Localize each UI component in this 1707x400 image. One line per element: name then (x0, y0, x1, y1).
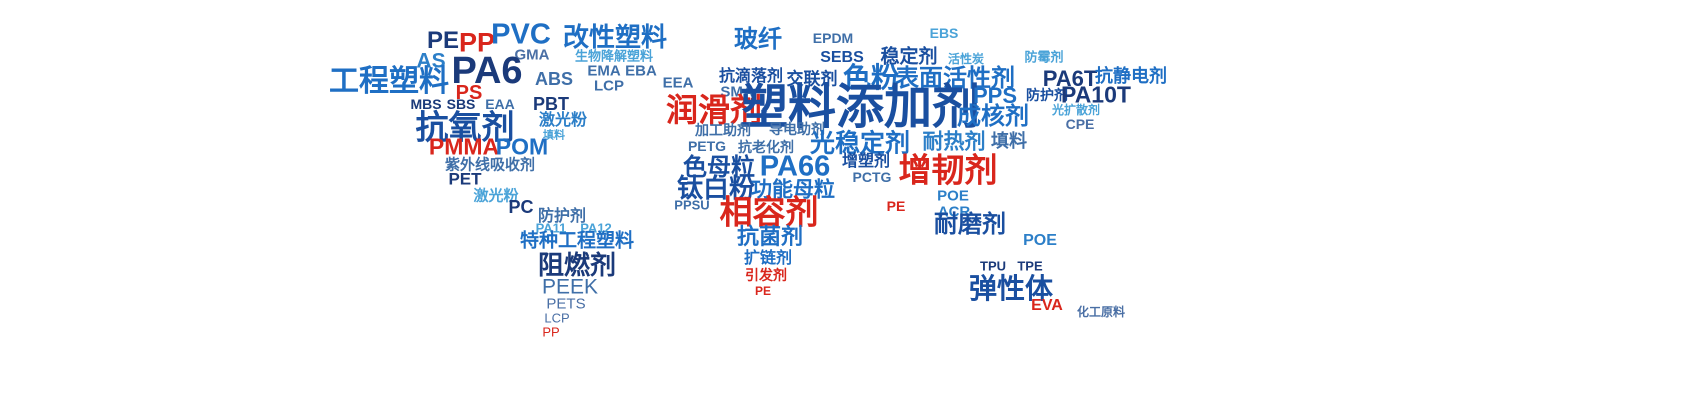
word-cloud-term[interactable]: PET (448, 171, 481, 188)
word-cloud-term[interactable]: 改性塑料 (563, 25, 667, 51)
word-cloud-term[interactable]: PPSU (674, 199, 709, 212)
word-cloud-term[interactable]: 光扩散剂 (1052, 104, 1100, 116)
word-cloud-term[interactable]: PVC (491, 21, 551, 50)
word-cloud-term[interactable]: 增韧剂 (899, 154, 998, 187)
word-cloud-term[interactable]: EBA (625, 64, 657, 79)
word-cloud-term[interactable]: 工程塑料 (329, 67, 449, 97)
word-cloud-term[interactable]: 引发剂 (745, 269, 787, 283)
word-cloud-term[interactable]: 激光粉 (539, 112, 587, 128)
word-cloud-term[interactable]: ABS (535, 70, 573, 88)
word-cloud-term[interactable]: 相容剂 (720, 196, 819, 229)
word-cloud-term[interactable]: 玻纤 (734, 27, 782, 51)
word-cloud-term[interactable]: POE (937, 189, 969, 204)
word-cloud-term[interactable]: EVA (1031, 298, 1063, 314)
word-cloud-term[interactable]: PETG (688, 139, 726, 153)
word-cloud-term[interactable]: LCP (544, 312, 569, 325)
word-cloud-term[interactable]: TPE (1017, 260, 1042, 273)
word-cloud-term[interactable]: EBS (930, 26, 959, 40)
word-cloud-term[interactable]: EMA (587, 64, 620, 79)
word-cloud-term[interactable]: 防霉剂 (1024, 52, 1063, 65)
word-cloud-term[interactable]: PC (508, 198, 533, 216)
word-cloud-term[interactable]: EPDM (813, 31, 853, 45)
word-cloud-term[interactable]: 抗菌剂 (737, 227, 803, 249)
word-cloud-term[interactable]: 化工原料 (1077, 306, 1125, 318)
word-cloud-term[interactable]: PCTG (853, 170, 892, 184)
word-cloud-term[interactable]: PE (887, 199, 906, 213)
word-cloud-term[interactable]: 加工助剂 (695, 124, 751, 138)
word-cloud-term[interactable]: EEA (663, 76, 694, 91)
word-cloud-term[interactable]: CPE (1066, 117, 1095, 131)
word-cloud-term[interactable]: 耐热剂 (923, 132, 986, 153)
word-cloud-term[interactable]: 耐磨剂 (934, 212, 1006, 236)
word-cloud-term[interactable]: 填料 (991, 133, 1027, 151)
word-cloud-term[interactable]: 增塑剂 (842, 153, 890, 169)
word-cloud-canvas: PEPPPVCGMAASPA6工程塑料ABSPSMBSSBSEAAPBT抗氧剂激… (0, 0, 1707, 400)
word-cloud-term[interactable]: TPU (980, 260, 1006, 273)
word-cloud-term[interactable]: PP (542, 326, 559, 339)
word-cloud-term[interactable]: 扩链剂 (744, 250, 792, 266)
word-cloud-term[interactable]: 特种工程塑料 (520, 232, 634, 251)
word-cloud-term[interactable]: 成核剂 (957, 104, 1029, 128)
word-cloud-term[interactable]: PE (755, 285, 771, 297)
word-cloud-term[interactable]: PEEK (542, 277, 598, 298)
word-cloud-term[interactable]: POE (1023, 233, 1057, 249)
word-cloud-term[interactable]: PETS (546, 297, 585, 312)
word-cloud-term[interactable]: LCP (594, 79, 624, 94)
